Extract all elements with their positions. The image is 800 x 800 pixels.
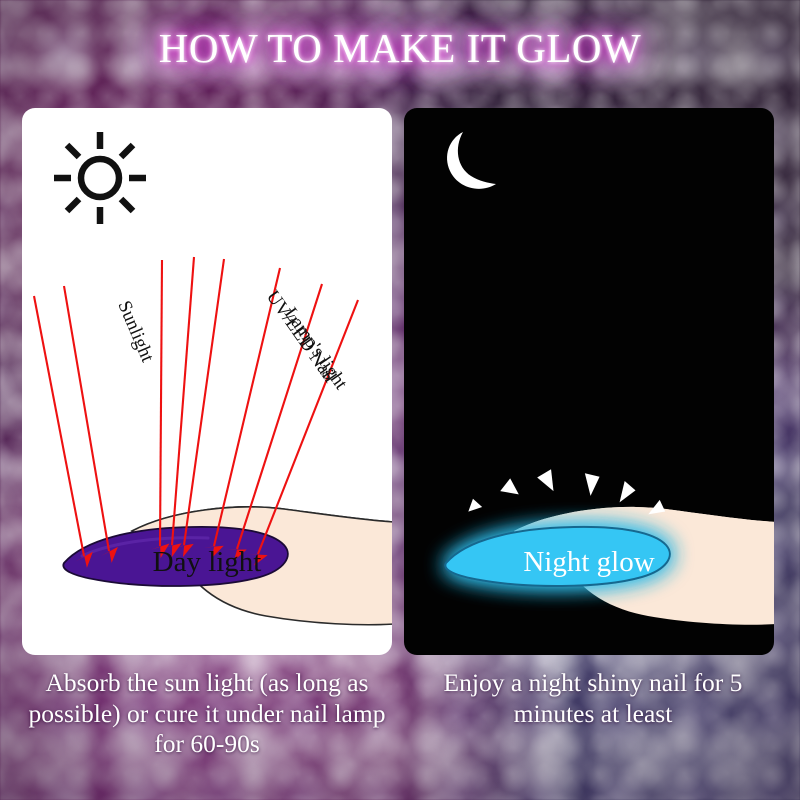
night-glow-card: Night glow (404, 108, 774, 655)
day-scene-label: Day light (22, 546, 392, 579)
day-caption: Absorb the sun light (as long as possibl… (19, 668, 395, 760)
sun-icon (50, 128, 150, 228)
night-scene-label: Night glow (404, 546, 774, 579)
day-light-card: Sunlight UV/LED Nail Lamp's light Day li… (22, 108, 392, 655)
page-title: HOW TO MAKE IT GLOW (0, 24, 800, 72)
night-caption: Enjoy a night shiny nail for 5 minutes a… (405, 668, 781, 729)
moon-icon (430, 126, 516, 212)
poster-canvas: HOW TO MAKE IT GLOW (0, 0, 800, 800)
ray-label-sunlight: Sunlight (113, 298, 158, 366)
